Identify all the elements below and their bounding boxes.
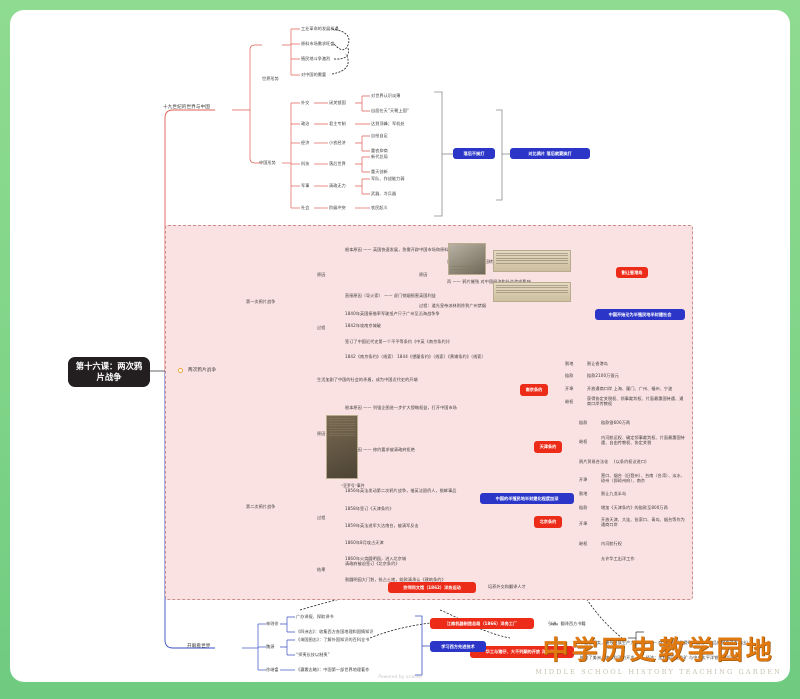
china-row-5-sub-0[interactable]: 农民起义 [371, 205, 388, 210]
red-box-jiangnan-arsenal[interactable]: 江南机器制造总局（1866）洋务工厂 [430, 618, 534, 629]
blue-box-fall-behind[interactable]: 落后不挨打 [453, 148, 495, 159]
china-row-3-sub-1[interactable]: 重天创新 [371, 169, 388, 174]
beijing-row-3-key[interactable]: 继权 [579, 541, 587, 546]
watermark-cn: 中学历史教学园地 [535, 630, 782, 667]
first-root-cause[interactable]: 根本原因 —— 英国快速发展，急需开辟中国市场和原料 [345, 247, 448, 252]
treaty-beijing-box[interactable]: 北京条约 [534, 516, 562, 528]
second-process-1[interactable]: 1858年签订《天津条约》 [345, 506, 394, 511]
tianjin-row-0-key[interactable]: 赔款 [579, 420, 587, 425]
beijing-row-4-val[interactable]: 允许华工出洋工作 [601, 556, 635, 561]
china-row-0-mid[interactable]: 闭关锁国 [329, 100, 346, 105]
second-process-label[interactable]: 过程 [317, 515, 325, 520]
first-process-note[interactable]: 过程：道光皇帝派林则徐到广州禁烟 [419, 303, 486, 308]
tianjin-row-2-val[interactable]: (以条约权议进口) [614, 459, 647, 464]
nanjing-row-2-key[interactable]: 开埠 [565, 386, 573, 391]
blue-box-learn-west[interactable]: 学习西方先进技术 [430, 641, 486, 652]
second-result-label[interactable]: 结果 [317, 567, 325, 572]
first-cause-label[interactable]: 原因 [317, 272, 325, 277]
tianjin-row-2-key[interactable]: 鸦片贸易合法化 [579, 459, 608, 464]
china-row-0-sub-0[interactable]: 对世界认识淡薄 [371, 93, 400, 98]
tianjin-row-0-val[interactable]: 赔款银600万两 [601, 420, 630, 425]
first-subcause-label[interactable]: 原因 [419, 272, 427, 277]
eyes-person-1-item-0[interactable]: 《海国图志》：了解外国知识的百科全书 [296, 637, 369, 642]
first-direct-cause[interactable]: 直接原因（导火索） —— 虎门销烟损害英国利益 [345, 293, 436, 298]
china-row-1-cat[interactable]: 政治 [301, 121, 309, 126]
nanjing-row-3-key[interactable]: 继权 [565, 399, 573, 404]
china-row-2-mid[interactable]: 小农经济 [329, 140, 346, 145]
beijing-row-1-val[interactable]: 增加《天津条约》的赔款至800万两 [601, 505, 668, 510]
node-world-item-3[interactable]: 对中国的需要 [301, 72, 326, 77]
treaty-nanjing-box[interactable]: 南京条约 [520, 384, 548, 396]
second-process-0[interactable]: 1856年英法发动第二次鸦片战争，借英法国侨人，挑衅事品 [345, 488, 480, 493]
node-second-opium-war[interactable]: 第二次鸦片战争 [246, 504, 275, 509]
first-process-1[interactable]: 1842年攻南京城破 [345, 323, 381, 328]
first-process-0[interactable]: 1840年英国接借率军驶抵卢只于广州至沿海战争争 [345, 311, 505, 316]
beijing-row-2-val[interactable]: 开放天津、大连、张家口、青岛、烟台等作为通商口岸 [601, 517, 689, 527]
china-row-2-cat[interactable]: 经济 [301, 140, 309, 145]
first-process-label[interactable]: 过程 [317, 325, 325, 330]
blue-box-compare[interactable]: 对比鸦片 落后就要挨打 [510, 148, 590, 159]
treaty-document-image [493, 250, 571, 272]
china-row-1-sub-0[interactable]: 达到顶峰；军机处 [371, 121, 405, 126]
second-result-0[interactable]: 清政府被迫签订《北京条约》 [345, 561, 400, 566]
branch-opium-label[interactable]: 两次鸦片战争 [188, 368, 216, 374]
china-row-2-sub-0[interactable]: 自给自足 [371, 133, 388, 138]
watermark: 中学历史教学园地 MIDDLE SCHOOL HISTORY TEACHING … [535, 630, 782, 676]
jiangnan-note[interactable]: 引进、翻译西方书籍 [548, 621, 586, 626]
node-world-item-1[interactable]: 原料市场需求旺盛 [301, 41, 335, 46]
china-row-2-sub-1[interactable]: 重农抑商 [371, 148, 388, 153]
tianjin-row-1-val[interactable]: 内河航运权、确定领事裁判权、片面最惠国待遇、自由传教权、协定关税 [601, 435, 689, 445]
second-process-3[interactable]: 1860年8月攻占天津 [345, 540, 384, 545]
china-row-1-mid[interactable]: 君主专制 [329, 121, 346, 126]
node-world-item-0[interactable]: 工业革命的发展机遇 [301, 26, 339, 31]
first-process-3[interactable]: 1842《南京条约》（线索） 1844《望厦条约》（线索）《黄埔条约》（线索） [345, 354, 495, 359]
mindmap-canvas: 第十六课：两次鸦片战争 十九世纪的世界与中国 世界形势 工业革命的发展机遇 原料… [10, 10, 790, 682]
tianjin-row-3-key[interactable]: 开埠 [579, 477, 587, 482]
beijing-row-0-key[interactable]: 割地 [579, 491, 587, 496]
eyes-person-2-item-0[interactable]: 《瀛寰志略》：中国第一部世界地理著作 [296, 667, 369, 672]
tianjin-row-1-key[interactable]: 继权 [579, 439, 587, 444]
beijing-row-2-key[interactable]: 开埠 [579, 521, 587, 526]
node-china-situation[interactable]: 中国形势 [259, 160, 276, 165]
treaty-tianjin-box[interactable]: 天津条约 [534, 441, 562, 453]
branch-eyes-label[interactable]: 开眼看世界 [187, 644, 210, 650]
second-root-cause[interactable]: 根本原因 —— 列强企图进一步扩大侵略权益，打开中国市场 [345, 405, 515, 410]
eyes-person-2[interactable]: 徐继畲 [266, 667, 279, 672]
nanjing-row-0-val[interactable]: 割让香港岛 [587, 361, 608, 366]
red-box-cede-hongkong[interactable]: 割让香港岛 [616, 267, 648, 278]
china-row-0-sub-1[interactable]: 自居在天”天朝上国“ [371, 108, 409, 113]
nanjing-row-3-val[interactable]: 获得协定关税权、领事裁判权、片面最惠国待遇、通商口岸传教权 [587, 396, 687, 406]
nanjing-treaty-image [493, 282, 571, 302]
first-result[interactable]: 生活加剧了中国的社会的矛盾，成为中国近代史的开端 [317, 377, 482, 382]
beijing-row-3-val[interactable]: 内河航行权 [601, 541, 622, 546]
china-row-5-mid[interactable]: 阶级冲突 [329, 205, 346, 210]
eyes-person-0-item-1[interactable]: 《四洲志》：收集西方各国地理和国情知识 [296, 629, 374, 634]
eyes-person-0-item-0[interactable]: 广办译报、探取译书 [296, 614, 334, 619]
blue-box-semi-colonial[interactable]: 中国开始沦为半殖民地半封建社会 [595, 309, 685, 320]
beijing-row-1-key[interactable]: 赔款 [579, 505, 587, 510]
nanjing-row-1-key[interactable]: 赔款 [565, 373, 573, 378]
china-row-4-mid[interactable]: 清政无力 [329, 183, 346, 188]
china-row-4-cat[interactable]: 军事 [301, 183, 309, 188]
node-world-situation[interactable]: 世界形势 [262, 76, 279, 81]
second-war-engraving [326, 415, 358, 479]
china-row-3-sub-0[interactable]: 新代总局 [371, 154, 388, 159]
nanjing-row-0-key[interactable]: 割地 [565, 361, 573, 366]
eyes-person-0[interactable]: 林则徐 [266, 621, 279, 626]
china-row-4-sub-0[interactable]: 军队、作战能力弱 [371, 176, 405, 181]
blue-box-deepen[interactable]: 中国的半殖民地半封建化程度加深 [480, 493, 574, 504]
china-row-5-cat[interactable]: 社会 [301, 205, 309, 210]
beijing-row-0-val[interactable]: 割让九龙半岛 [601, 491, 626, 496]
second-cause-label[interactable]: 原因 [317, 431, 325, 436]
tongwenguan-note[interactable]: 培养外交和翻译人才 [488, 584, 526, 589]
china-row-0-cat[interactable]: 外交 [301, 100, 309, 105]
lin-zexu-photo [448, 243, 486, 275]
opium-branch-bullet [178, 368, 183, 373]
node-world-item-2[interactable]: 殖民地斗争激烈 [301, 56, 330, 61]
red-box-tongwenguan[interactable]: 京师同文馆（1862）洋务运动 [388, 582, 476, 593]
china-row-4-sub-1[interactable]: 武器、冷兵器 [371, 191, 396, 196]
eyes-person-1-item-1[interactable]: “师夷长技以制夷” [296, 652, 330, 657]
root-node[interactable]: 第十六课：两次鸦片战争 [68, 357, 150, 387]
first-process-2[interactable]: 签订了中国近代史第一个不平等条约《中英《南京条约》》 [345, 339, 495, 344]
eyes-person-1[interactable]: 魏源 [266, 644, 274, 649]
branch-19c-label[interactable]: 十九世纪的世界与中国 [163, 105, 210, 111]
footer-credit: Powered by orixted [10, 675, 790, 680]
node-first-opium-war[interactable]: 第一次鸦片战争 [246, 299, 275, 304]
nanjing-row-1-val[interactable]: 赔款2100万银元 [587, 373, 619, 378]
second-process-2[interactable]: 1859年英法进军大沽炮台，被清军反击 [345, 523, 419, 528]
china-row-3-mid[interactable]: 落后世界 [329, 161, 346, 166]
china-row-3-cat[interactable]: 科技 [301, 161, 309, 166]
nanjing-row-2-val[interactable]: 开放通商口岸 上海、厦门、广州、福州、宁波 [587, 386, 672, 391]
tianjin-row-3-val[interactable]: 营口、烟台（旧登州）、台南（台湾）、淡水、琼州（即琼州府）、南京 [601, 473, 689, 483]
